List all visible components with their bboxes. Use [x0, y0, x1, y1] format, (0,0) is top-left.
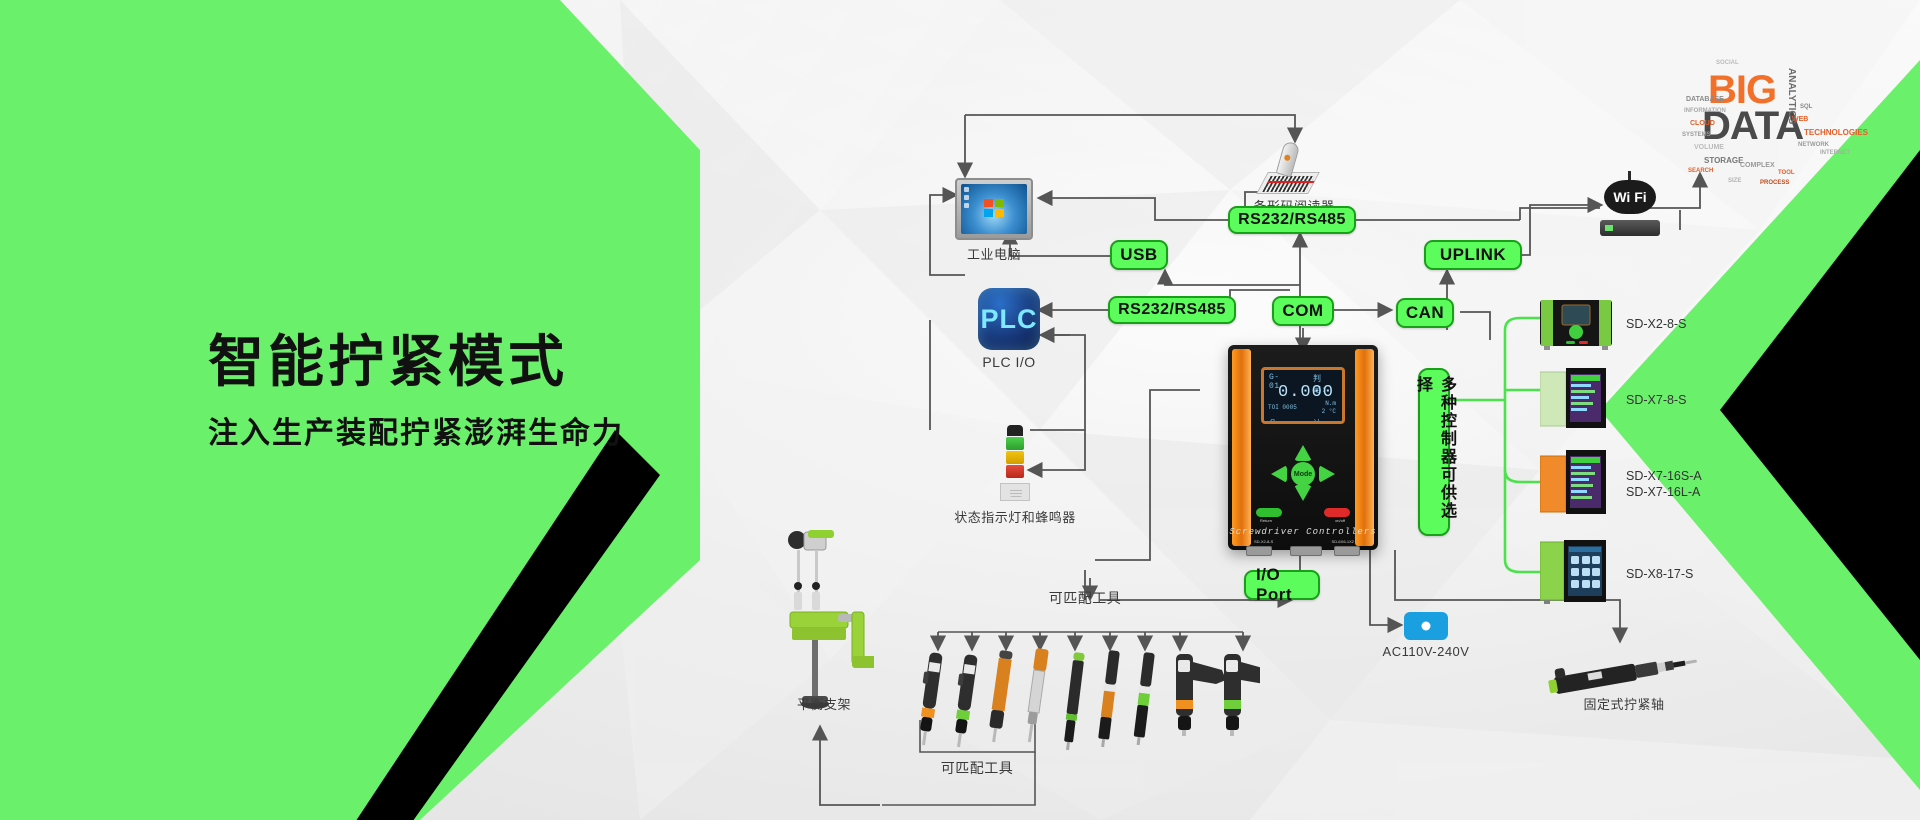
wifi-router-icon: Wi Fi	[1600, 180, 1660, 236]
controller-thumb-4-icon	[1540, 540, 1606, 604]
controller-model-right: SD-6X6-1X2	[1332, 539, 1354, 544]
label-matched-tools-top: 可匹配工具	[1020, 588, 1150, 608]
pill-rs232-top[interactable]: RS232/RS485	[1228, 206, 1356, 234]
pill-com[interactable]: COM	[1272, 296, 1334, 326]
dpad-left-button[interactable]	[1271, 465, 1287, 483]
node-balance-arm[interactable]: 平衡支架	[778, 528, 874, 723]
option-label-1: SD-X2-8-S	[1626, 316, 1686, 333]
node-main-controller[interactable]: G-01 判定: 0.000 TOI 0005 N.m 2 °C 角度:0 计数…	[1228, 345, 1378, 550]
page-title: 智能拧紧模式	[208, 330, 624, 394]
windows-logo-icon	[984, 199, 1004, 217]
lcd-sub-left: TOI 0005	[1268, 404, 1297, 411]
return-button-label: Return	[1260, 518, 1272, 523]
page-subtitle: 注入生产装配拧紧澎湃生命力	[208, 408, 624, 452]
controller-thumb-1-icon	[1540, 298, 1612, 350]
monitor-icon	[955, 178, 1033, 240]
lcd-sub-right: 2 °C	[1322, 408, 1336, 416]
tools-icons	[900, 648, 1260, 768]
dpad-up-button[interactable]	[1294, 445, 1312, 461]
pill-can[interactable]: CAN	[1396, 298, 1454, 328]
big-data-wordcloud: BIG DATA DATABASE INFORMATION CLOUD SYST…	[1680, 50, 1870, 190]
controller-brand: Screwdriver Controllers	[1228, 527, 1378, 537]
node-plc[interactable]: PLC PLC I/O	[978, 288, 1040, 350]
pill-io-port[interactable]: I/O Port	[1244, 570, 1320, 600]
balance-arm-icon	[778, 528, 874, 718]
option-sd-x7-16[interactable]: SD-X7-16S-A SD-X7-16L-A	[1540, 450, 1606, 521]
banner-stage: 智能拧紧模式 注入生产装配拧紧澎湃生命力	[0, 0, 1920, 820]
connector-left	[1246, 546, 1272, 556]
controller-thumb-3-icon	[1540, 450, 1606, 516]
controller-thumb-2-icon	[1540, 368, 1606, 430]
option-label-4: SD-X7-16L-A	[1626, 484, 1700, 501]
node-ac-power[interactable]: AC110V-240V	[1404, 612, 1448, 640]
dpad-down-button[interactable]	[1294, 485, 1312, 501]
dpad-right-button[interactable]	[1319, 465, 1335, 483]
label-fixed-spindle: 固定式拧紧轴	[1560, 694, 1688, 713]
return-button[interactable]	[1256, 508, 1282, 517]
controller-dpad[interactable]: Mode	[1271, 445, 1335, 501]
tools-row	[900, 648, 1260, 773]
pill-rs232-left[interactable]: RS232/RS485	[1108, 296, 1236, 324]
connector-right	[1334, 546, 1360, 556]
option-label-3: SD-X7-16S-A	[1626, 468, 1702, 485]
connector-center	[1290, 546, 1322, 556]
label-plc-io: PLC I/O	[962, 354, 1056, 370]
node-big-data: BIG DATA DATABASE INFORMATION CLOUD SYST…	[1680, 50, 1870, 190]
lcd-row4-left: 角度:0	[1269, 418, 1287, 424]
screwdriver-controller-device: G-01 判定: 0.000 TOI 0005 N.m 2 °C 角度:0 计数…	[1228, 345, 1378, 550]
node-fixed-spindle[interactable]: 固定式拧紧轴	[1540, 648, 1700, 699]
pill-uplink[interactable]: UPLINK	[1424, 240, 1522, 270]
node-barcode-reader[interactable]: 条形码阅读器	[1262, 142, 1326, 194]
option-label-5: SD-X8-17-S	[1626, 566, 1693, 583]
option-sd-x2-8-s[interactable]: SD-X2-8-S	[1540, 298, 1612, 355]
pill-usb[interactable]: USB	[1110, 240, 1168, 270]
stack-light-icon	[1000, 425, 1030, 501]
controller-model-left: SD-X2-8-S	[1254, 539, 1273, 544]
lcd-row4-right: 计数:5	[1313, 418, 1331, 424]
lcd-unit-bottom: N.m	[1322, 400, 1336, 408]
label-ac-power: AC110V-240V	[1370, 644, 1482, 659]
node-industrial-pc[interactable]: 工业电脑	[955, 178, 1033, 240]
ac-plug-icon	[1404, 612, 1448, 640]
plc-icon: PLC	[978, 288, 1040, 350]
controller-lcd: G-01 判定: 0.000 TOI 0005 N.m 2 °C 角度:0 计数…	[1261, 367, 1345, 424]
pill-controller-options[interactable]: 多种控制器可供选择	[1418, 368, 1450, 536]
node-status-light[interactable]: 状态指示灯和蜂鸣器	[1000, 425, 1030, 501]
label-industrial-pc: 工业电脑	[943, 244, 1045, 263]
label-status-light: 状态指示灯和蜂鸣器	[942, 507, 1088, 526]
node-wifi[interactable]: Wi Fi	[1600, 180, 1660, 236]
power-button-label: on/off	[1335, 518, 1345, 523]
wifi-label: Wi Fi	[1604, 180, 1656, 214]
barcode-scanner-icon	[1262, 142, 1326, 194]
mode-button[interactable]: Mode	[1291, 462, 1315, 486]
option-label-2: SD-X7-8-S	[1626, 392, 1686, 409]
label-balance-arm: 平衡支架	[764, 694, 884, 713]
option-sd-x8-17-s[interactable]: SD-X8-17-S	[1540, 540, 1606, 609]
power-button[interactable]	[1324, 508, 1350, 517]
hero-text-block: 智能拧紧模式 注入生产装配拧紧澎湃生命力	[208, 330, 624, 452]
option-sd-x7-8-s[interactable]: SD-X7-8-S	[1540, 368, 1606, 435]
fixed-spindle-icon	[1540, 648, 1700, 694]
